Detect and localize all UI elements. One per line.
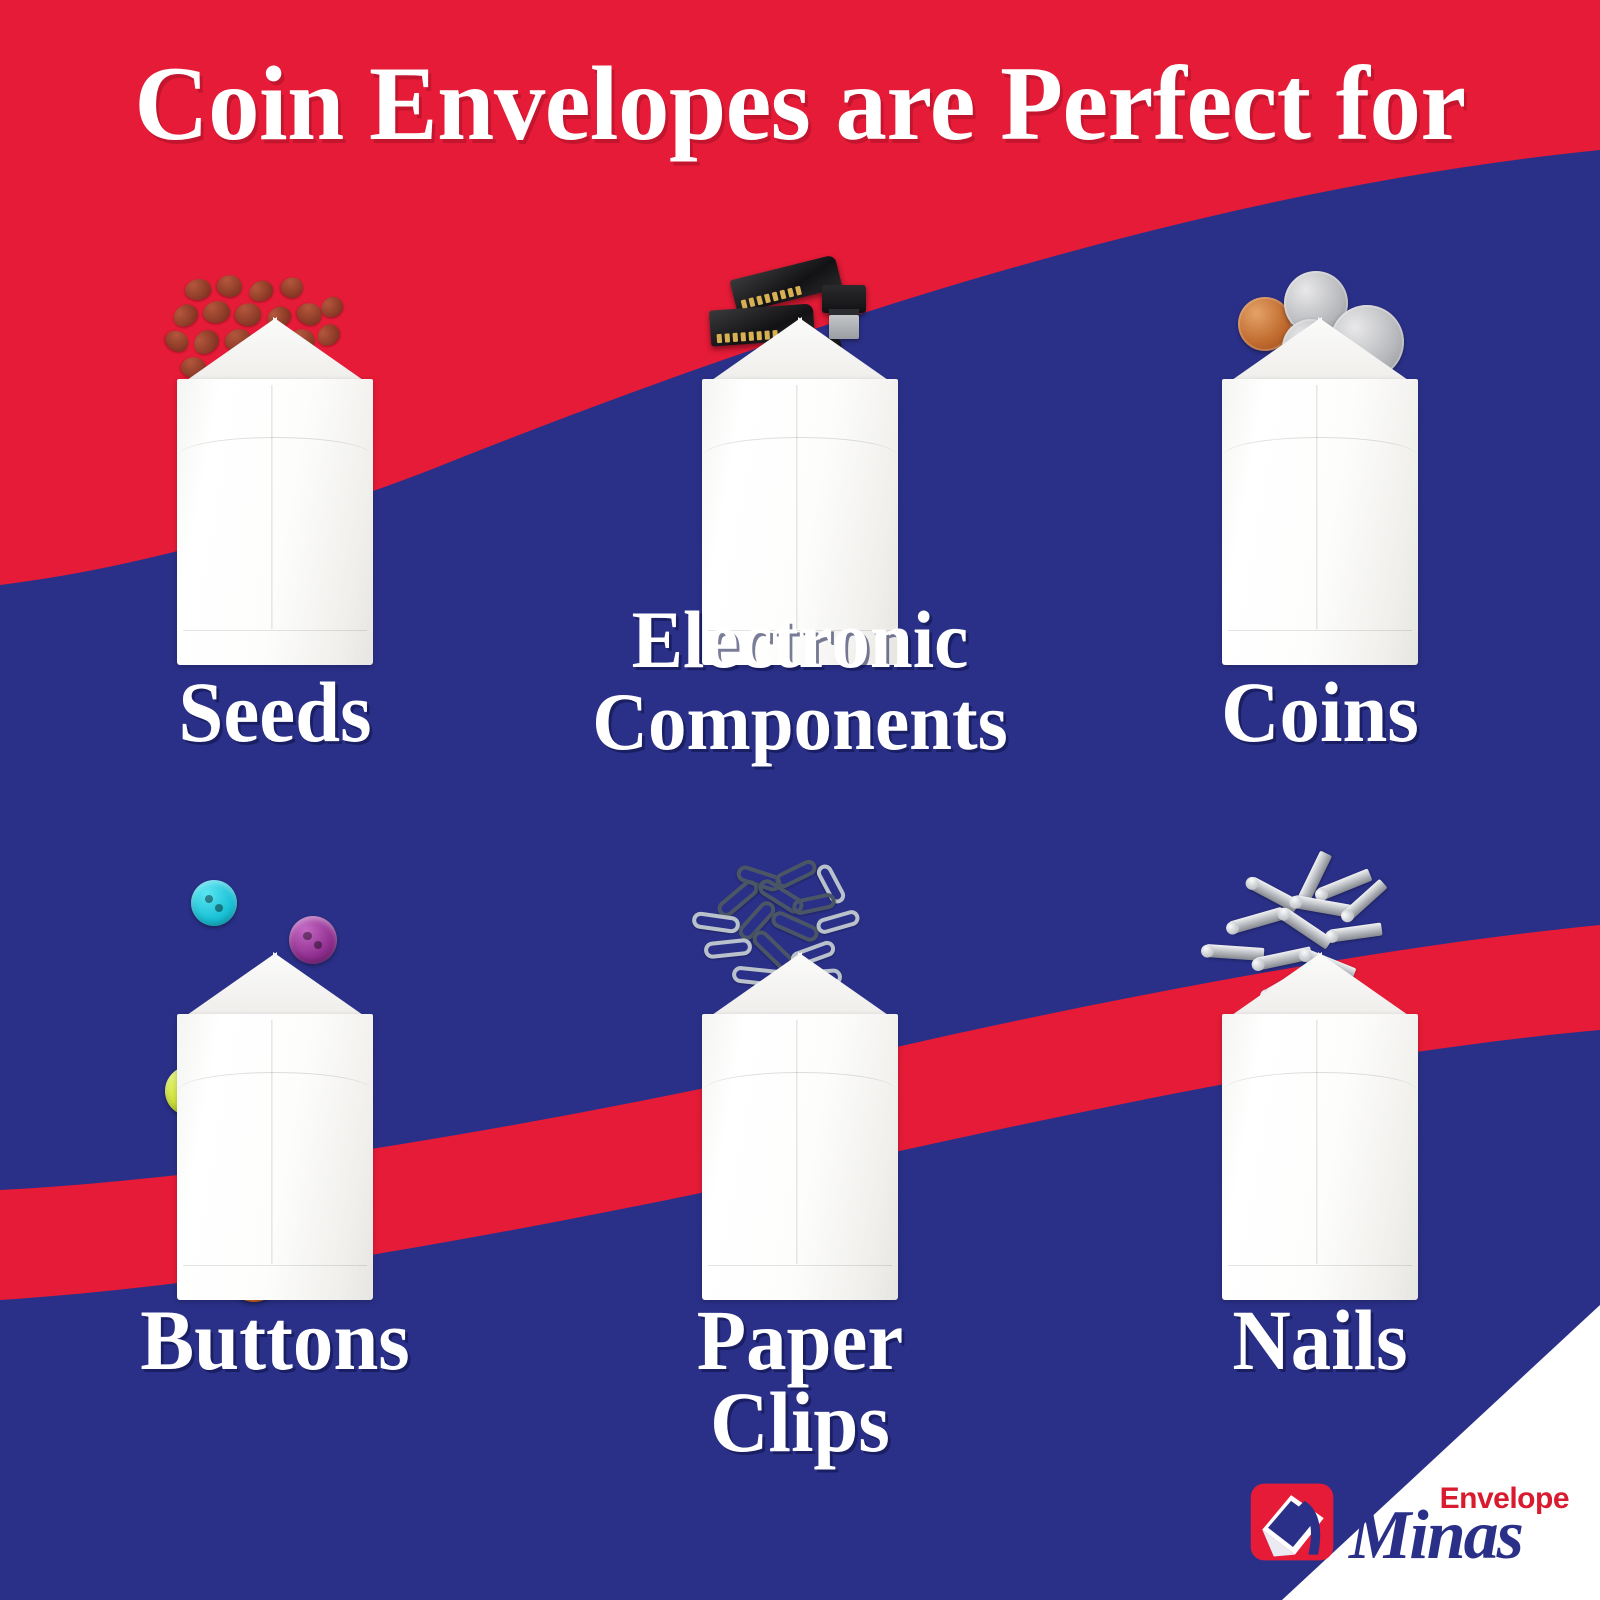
envelope-graphic (1222, 317, 1418, 665)
card-label-nails: Nails (1094, 1298, 1545, 1382)
envelope-flap-right (1318, 952, 1418, 1022)
envelope-nails (1080, 880, 1560, 1300)
envelope-body (1222, 379, 1418, 665)
envelope-body (177, 1014, 373, 1300)
envelope-flap-left (1222, 317, 1322, 387)
envelope-coins (1080, 270, 1560, 665)
envelope-flap-left (702, 317, 802, 387)
envelope-body (1222, 1014, 1418, 1300)
envelope-flap-left (702, 952, 802, 1022)
envelope-flap-left (1222, 952, 1322, 1022)
card-nails: Nails (1080, 880, 1560, 1500)
envelope-lip (179, 437, 371, 455)
card-seeds: Seeds (35, 270, 515, 870)
card-label-coins: Coins (1094, 670, 1545, 754)
envelope-flap-right (1318, 317, 1418, 387)
logo-wordmark: Envelope Minas (1349, 1468, 1575, 1580)
card-electronic-components: Electronic Components (560, 270, 1040, 870)
brand-logo[interactable]: Envelope Minas (1245, 1468, 1575, 1580)
envelope-flap-right (798, 317, 898, 387)
card-label-paper-line2: Clips (574, 1380, 1025, 1464)
envelope-graphic (702, 952, 898, 1300)
card-label-paper-line1: Paper (574, 1298, 1025, 1382)
envelope-flap-left (177, 317, 277, 387)
envelope-body (177, 379, 373, 665)
envelope-body (702, 1014, 898, 1300)
envelope-flap-left (177, 952, 277, 1022)
envelope-graphic (177, 317, 373, 665)
card-buttons: Buttons (35, 880, 515, 1500)
cards-grid: Seeds (0, 0, 1600, 1600)
infographic-canvas: Coin Envelopes are Perfect for (0, 0, 1600, 1600)
card-paper-clips: Paper Clips (560, 880, 1040, 1500)
envelope-logo-icon (1245, 1474, 1341, 1570)
envelope-lip (179, 1072, 371, 1090)
envelope-paper-clips (560, 880, 1040, 1300)
envelope-flap-right (798, 952, 898, 1022)
card-label-electronic-line2: Components (574, 682, 1025, 762)
envelope-buttons (35, 880, 515, 1300)
card-label-seeds: Seeds (49, 670, 500, 754)
envelope-graphic (1222, 952, 1418, 1300)
envelope-lip (704, 437, 896, 455)
envelope-flap-right (273, 317, 373, 387)
envelope-flap-right (273, 952, 373, 1022)
logo-minas-text: Minas (1349, 1496, 1522, 1576)
card-label-buttons: Buttons (49, 1298, 500, 1382)
envelope-lip (1224, 437, 1416, 455)
card-label-electronic-line1: Electronic (574, 600, 1025, 680)
envelope-lip (1224, 1072, 1416, 1090)
envelope-seeds (35, 270, 515, 665)
card-coins: Coins (1080, 270, 1560, 870)
envelope-graphic (177, 952, 373, 1300)
envelope-lip (704, 1072, 896, 1090)
